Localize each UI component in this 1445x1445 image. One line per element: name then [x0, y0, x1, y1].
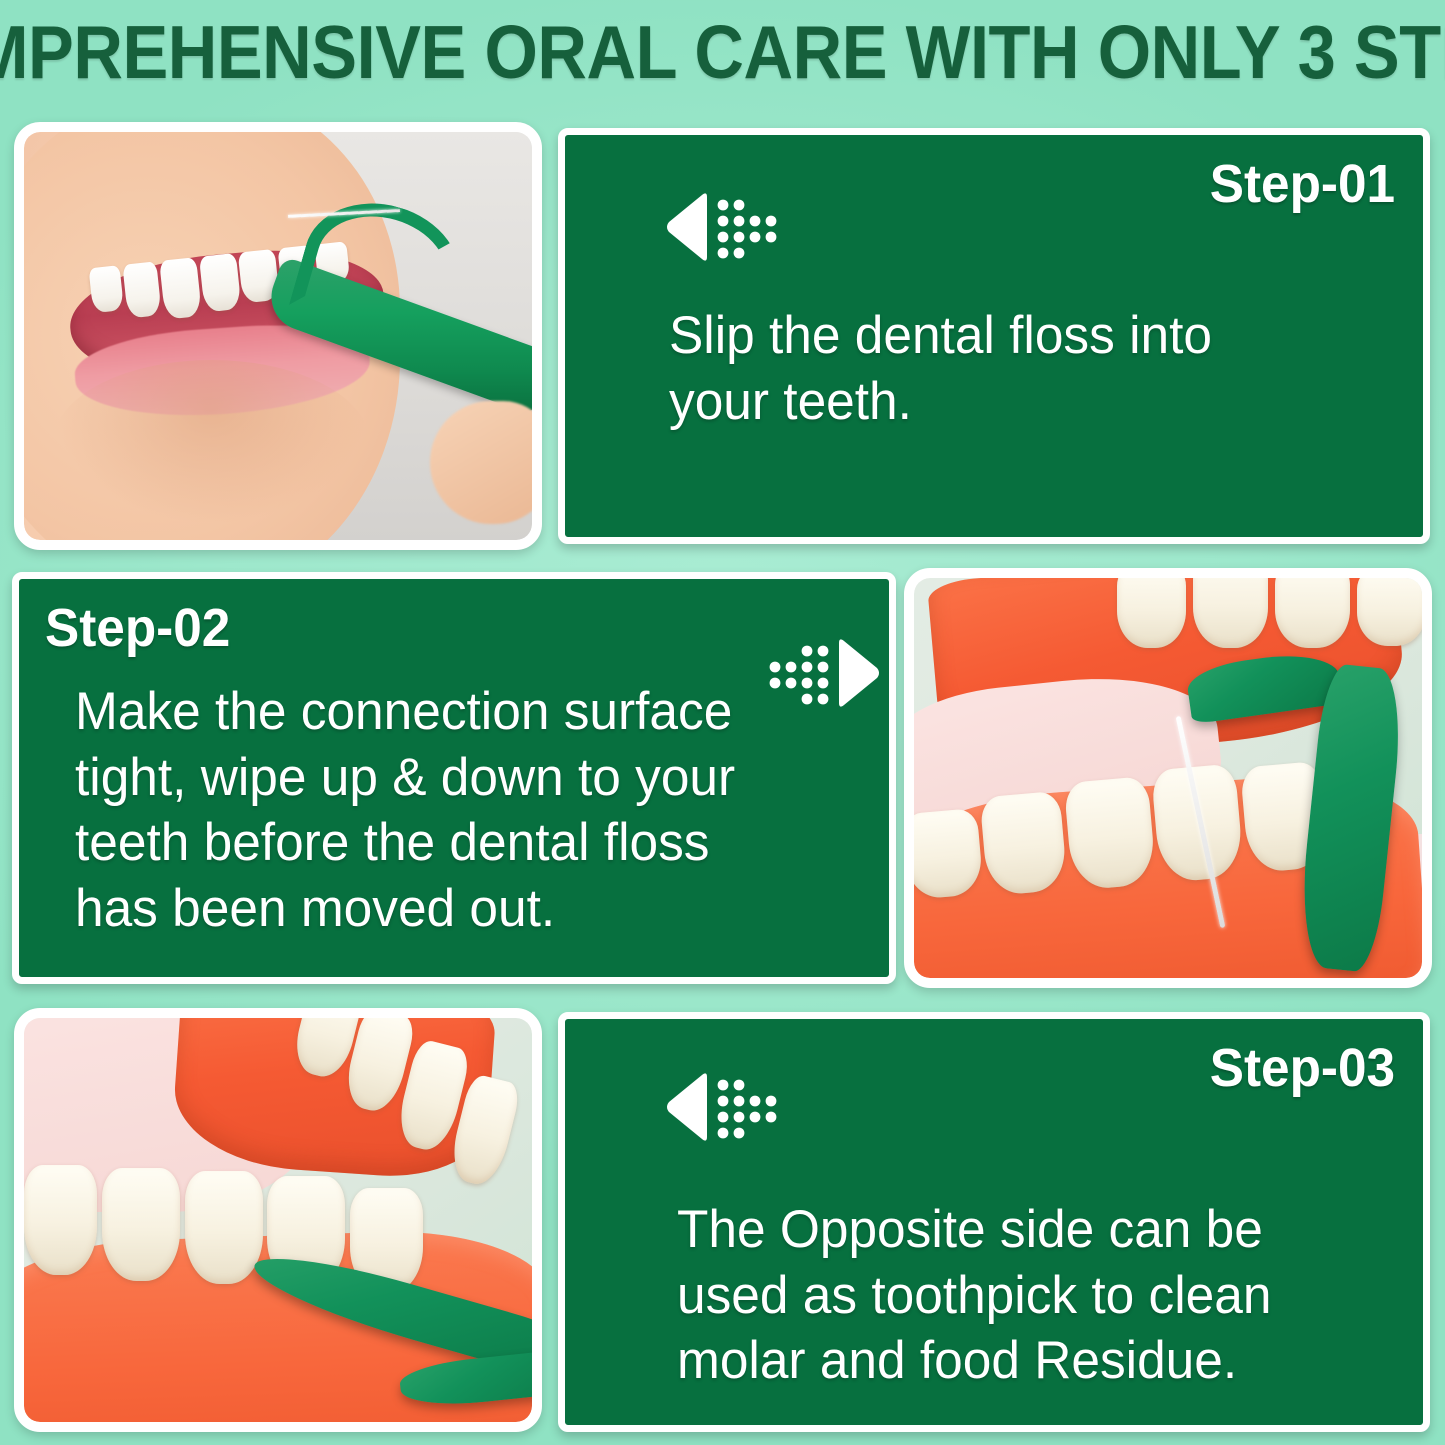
chin-shadow [54, 360, 369, 523]
tooth [24, 1165, 97, 1276]
step-02-panel: Step-02 Make the connection surface tigh… [12, 572, 896, 984]
step-02-photo [914, 578, 1422, 978]
mouth-floss-illustration [24, 132, 532, 540]
tooth [1193, 578, 1269, 648]
poster-title-bar: COMPREHENSIVE ORAL CARE WITH ONLY 3 STEP… [0, 0, 1445, 104]
step-03-body: The Opposite side can be used as toothpi… [677, 1197, 1321, 1394]
step-03-label: Step-03 [1210, 1041, 1395, 1095]
step-01-body: Slip the dental floss into your teeth. [669, 303, 1290, 434]
step-03-photo-card [14, 1008, 542, 1432]
tooth [88, 266, 124, 314]
tooth [1117, 578, 1186, 648]
arrow-left-dots-icon [665, 191, 781, 263]
step-01-photo [24, 132, 532, 540]
tooth [159, 258, 202, 320]
tooth [122, 262, 162, 319]
tooth [199, 253, 242, 313]
step-01-photo-card [14, 122, 542, 550]
tooth [1275, 578, 1351, 648]
step-01-label: Step-01 [1210, 157, 1395, 211]
step-01-panel: Step-01 Slip the dental floss into your … [558, 128, 1430, 544]
step-03-photo [24, 1018, 532, 1422]
poster-title: COMPREHENSIVE ORAL CARE WITH ONLY 3 STEP… [0, 15, 1445, 90]
infographic-poster: COMPREHENSIVE ORAL CARE WITH ONLY 3 STEP… [0, 0, 1445, 1445]
tooth [102, 1168, 180, 1281]
dental-model-flossing-illustration [914, 578, 1422, 978]
tooth [185, 1171, 263, 1284]
step-02-label: Step-02 [45, 601, 230, 655]
tooth [1063, 776, 1156, 891]
step-03-panel: Step-03 The Opposite side can be used as… [558, 1012, 1430, 1432]
arrow-left-dots-icon [665, 1071, 781, 1143]
step-02-body: Make the connection surface tight, wipe … [75, 679, 773, 942]
arrow-right-dots-icon [765, 637, 881, 709]
step-02-photo-card [904, 568, 1432, 988]
tooth [1357, 578, 1422, 646]
tooth [980, 791, 1068, 896]
tooth [914, 808, 984, 901]
upper-teeth-row [1117, 578, 1422, 650]
dental-model-toothpick-illustration [24, 1018, 532, 1422]
